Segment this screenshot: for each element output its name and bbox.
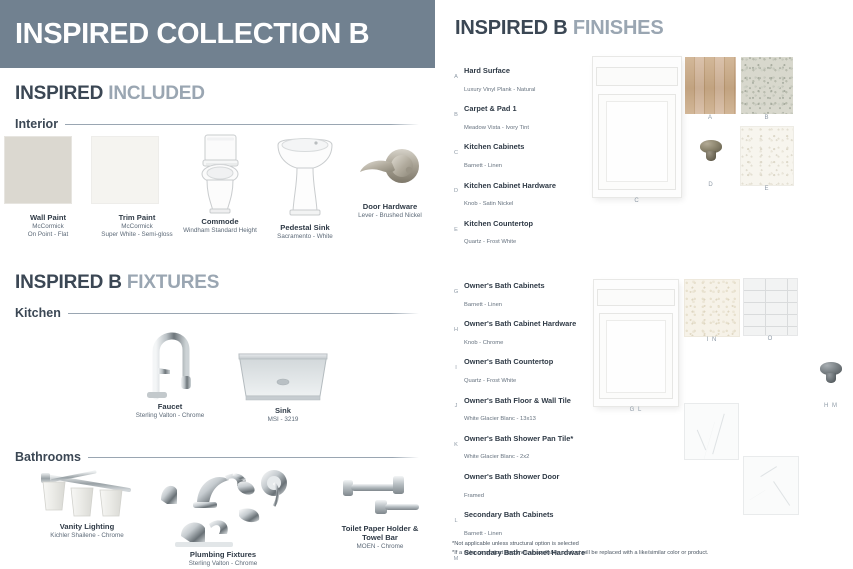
- finish-name: Owner's Bath Cabinets: [464, 281, 545, 290]
- swatch-carpet: B: [741, 57, 793, 114]
- product-towel-bar: Toilet Paper Holder & Towel Bar MOEN - C…: [318, 470, 442, 550]
- finish-row-a: A Hard Surface Luxury Vinyl Plank - Natu…: [452, 60, 602, 95]
- finish-row-j: J Owner's Bath Floor & Wall Tile White G…: [452, 390, 602, 425]
- finishes-list-bath: G Owner's Bath Cabinets Barnett - Linen …: [452, 275, 602, 569]
- finish-name: Owner's Bath Countertop: [464, 357, 553, 366]
- swatch-letter: H M: [820, 403, 842, 409]
- product-spec: Windham Standard Height: [178, 227, 262, 235]
- finish-spec: Quartz - Frost White: [464, 378, 516, 384]
- pedestal-sink-icon: [264, 133, 346, 223]
- heading-included-light: INCLUDED: [108, 83, 205, 104]
- swatch-kitchen-cabinet: C: [593, 57, 681, 197]
- finish-spec: Meadow Vista - Ivory Tint: [464, 125, 529, 131]
- finish-name: Kitchen Cabinet Hardware: [464, 181, 556, 190]
- swatch-letter: C: [593, 198, 681, 204]
- product-name: Toilet Paper Holder & Towel Bar: [318, 525, 442, 543]
- footnotes: *Not applicable unless structural option…: [452, 540, 708, 559]
- finish-letter: K: [452, 443, 460, 449]
- section-label-interior: Interior: [15, 117, 58, 131]
- finishes-list-primary: A Hard Surface Luxury Vinyl Plank - Natu…: [452, 60, 602, 251]
- finish-spec: Knob - Chrome: [464, 340, 503, 346]
- door-lever-icon: [344, 143, 436, 199]
- product-trim-paint: Trim Paint McCormick Super White - Semi-…: [92, 137, 182, 238]
- swatch-bath-wall-tile: O: [744, 279, 797, 335]
- product-wall-paint: Wall Paint McCormick On Point - Flat: [5, 137, 91, 238]
- swatch-bath-countertop: I N: [685, 280, 739, 336]
- product-spec: Kichler Shailene - Chrome: [22, 532, 152, 540]
- finish-name: Owner's Bath Cabinet Hardware: [464, 319, 576, 328]
- heading-fixtures-strong: INSPIRED B: [15, 272, 122, 293]
- section-rule: [68, 313, 419, 314]
- heading-included-strong: INSPIRED: [15, 83, 103, 104]
- heading-finishes-strong: INSPIRED B: [455, 17, 567, 39]
- finish-spec: Framed: [464, 493, 484, 499]
- product-name: Vanity Lighting: [22, 523, 152, 532]
- finish-row-k: K Owner's Bath Shower Pan Tile* White Gl…: [452, 428, 602, 463]
- plumbing-fixtures-icon: [148, 464, 298, 550]
- finish-row-h: H Owner's Bath Cabinet Hardware Knob - C…: [452, 313, 602, 348]
- product-name: Trim Paint: [92, 214, 182, 223]
- paint-chip-wall: [5, 137, 91, 203]
- section-label-bathrooms: Bathrooms: [15, 450, 81, 464]
- section-label-kitchen: Kitchen: [15, 306, 61, 320]
- section-header-interior: Interior: [15, 117, 419, 131]
- finish-name: Kitchen Countertop: [464, 219, 533, 228]
- finish-letter: G: [452, 290, 460, 296]
- finish-spec: White Glacier Blanc - 2x2: [464, 454, 529, 460]
- footnote-structural: *Not applicable unless structural option…: [452, 540, 708, 549]
- vanity-light-icon: [22, 466, 152, 520]
- swatch-kitchen-countertop: E: [741, 127, 793, 185]
- product-name: Plumbing Fixtures: [148, 551, 298, 560]
- finish-letter: A: [452, 75, 460, 81]
- finish-name: Carpet & Pad 1: [464, 104, 517, 113]
- towel-bar-icon: [318, 470, 442, 522]
- swatch-kitchen-knob: D: [700, 140, 722, 161]
- finish-letter: C: [452, 151, 460, 157]
- product-kitchen-sink: Sink MSI - 3219: [222, 348, 344, 424]
- finish-row-g: G Owner's Bath Cabinets Barnett - Linen: [452, 275, 602, 310]
- product-name: Sink: [222, 407, 344, 416]
- finish-row-e: E Kitchen Countertop Quartz - Frost Whit…: [452, 213, 602, 248]
- product-door-hardware: Door Hardware Lever - Brushed Nickel: [344, 143, 436, 220]
- swatch-bath-cabinet: G L: [594, 280, 678, 406]
- finish-letter: H: [452, 328, 460, 334]
- product-spec: Sterling Valton - Chrome: [100, 412, 240, 420]
- swatch-letter: A: [685, 115, 736, 121]
- swatch-letter: O: [744, 336, 797, 342]
- toilet-icon: [178, 133, 262, 215]
- product-spec: Sacramento - White: [264, 233, 346, 241]
- paint-chip-trim: [92, 137, 182, 203]
- finish-letter: J: [452, 404, 460, 410]
- finish-letter: D: [452, 189, 460, 195]
- finish-spec: Knob - Satin Nickel: [464, 201, 513, 207]
- product-spec: Sterling Valton - Chrome: [148, 560, 298, 568]
- swatch-letter: B: [741, 115, 793, 121]
- product-name: Door Hardware: [344, 203, 436, 212]
- finish-name: Owner's Bath Floor & Wall Tile: [464, 396, 571, 405]
- finish-spec: White Glacier Blanc - 13x13: [464, 416, 536, 422]
- product-kitchen-faucet: Faucet Sterling Valton - Chrome: [100, 318, 240, 420]
- finish-row-shower-door: Owner's Bath Shower Door Framed: [452, 466, 602, 501]
- section-header-bathrooms: Bathrooms: [15, 450, 419, 464]
- product-pedestal-sink: Pedestal Sink Sacramento - White: [264, 133, 346, 241]
- collection-sheet: INSPIRED COLLECTION B INSPIRED INCLUDED …: [0, 0, 853, 569]
- swatch-shower-pan-tile: K: [744, 457, 798, 514]
- product-spec: MSI - 3219: [222, 416, 344, 424]
- kitchen-faucet-icon: [100, 318, 240, 400]
- finish-row-l: L Secondary Bath Cabinets Barnett - Line…: [452, 504, 602, 539]
- product-name: Commode: [178, 218, 262, 227]
- heading-inspired-finishes: INSPIRED B FINISHES: [455, 17, 663, 40]
- page-title: INSPIRED COLLECTION B: [0, 18, 369, 51]
- product-name: Pedestal Sink: [264, 224, 346, 233]
- swatch-bath-floor-tile: J P: [685, 404, 738, 459]
- swatch-bath-knob: H M: [820, 362, 842, 383]
- finish-row-c: C Kitchen Cabinets Barnett - Linen: [452, 136, 602, 171]
- finish-letter: I: [452, 366, 460, 372]
- heading-inspired-included: INSPIRED INCLUDED: [15, 83, 205, 105]
- finish-letter: L: [452, 519, 460, 525]
- finish-row-b: B Carpet & Pad 1 Meadow Vista - Ivory Ti…: [452, 98, 602, 133]
- product-commode: Commode Windham Standard Height: [178, 133, 262, 235]
- finish-spec: Barnett - Linen: [464, 163, 502, 169]
- finish-name: Kitchen Cabinets: [464, 142, 524, 151]
- footnote-availability: *If a color or product becomes unavailab…: [452, 549, 708, 558]
- product-spec: McCormick On Point - Flat: [5, 223, 91, 238]
- swatch-hard-surface: A: [685, 57, 736, 114]
- product-name: Faucet: [100, 403, 240, 412]
- heading-finishes-light: FINISHES: [573, 17, 664, 39]
- finish-row-i: I Owner's Bath Countertop Quartz - Frost…: [452, 351, 602, 386]
- kitchen-sink-icon: [222, 348, 344, 404]
- page-banner: INSPIRED COLLECTION B: [0, 0, 435, 68]
- swatch-letter: E: [741, 186, 793, 192]
- finish-name: Owner's Bath Shower Pan Tile*: [464, 434, 573, 443]
- finish-name: Secondary Bath Cabinets: [464, 510, 554, 519]
- finish-letter: B: [452, 113, 460, 119]
- section-rule: [88, 457, 419, 458]
- product-plumbing-fixtures: Plumbing Fixtures Sterling Valton - Chro…: [148, 464, 298, 568]
- product-spec: MOEN - Chrome: [318, 543, 442, 551]
- swatch-letter: D: [700, 182, 722, 188]
- product-name: Wall Paint: [5, 214, 91, 223]
- finish-spec: Barnett - Linen: [464, 531, 502, 537]
- finish-spec: Quartz - Frost White: [464, 239, 516, 245]
- product-spec: McCormick Super White - Semi-gloss: [92, 223, 182, 238]
- product-spec: Lever - Brushed Nickel: [344, 212, 436, 220]
- finish-spec: Barnett - Linen: [464, 302, 502, 308]
- heading-fixtures-light: FIXTURES: [127, 272, 219, 293]
- finish-name: Hard Surface: [464, 66, 510, 75]
- finish-name: Owner's Bath Shower Door: [464, 472, 559, 481]
- heading-inspired-fixtures: INSPIRED B FIXTURES: [15, 272, 219, 294]
- finish-letter: E: [452, 228, 460, 234]
- finish-row-d: D Kitchen Cabinet Hardware Knob - Satin …: [452, 175, 602, 210]
- swatch-letter: I N: [685, 337, 739, 343]
- product-vanity-lighting: Vanity Lighting Kichler Shailene - Chrom…: [22, 466, 152, 540]
- swatch-letter: G L: [594, 407, 678, 413]
- section-rule: [65, 124, 419, 125]
- finish-spec: Luxury Vinyl Plank - Natural: [464, 87, 535, 93]
